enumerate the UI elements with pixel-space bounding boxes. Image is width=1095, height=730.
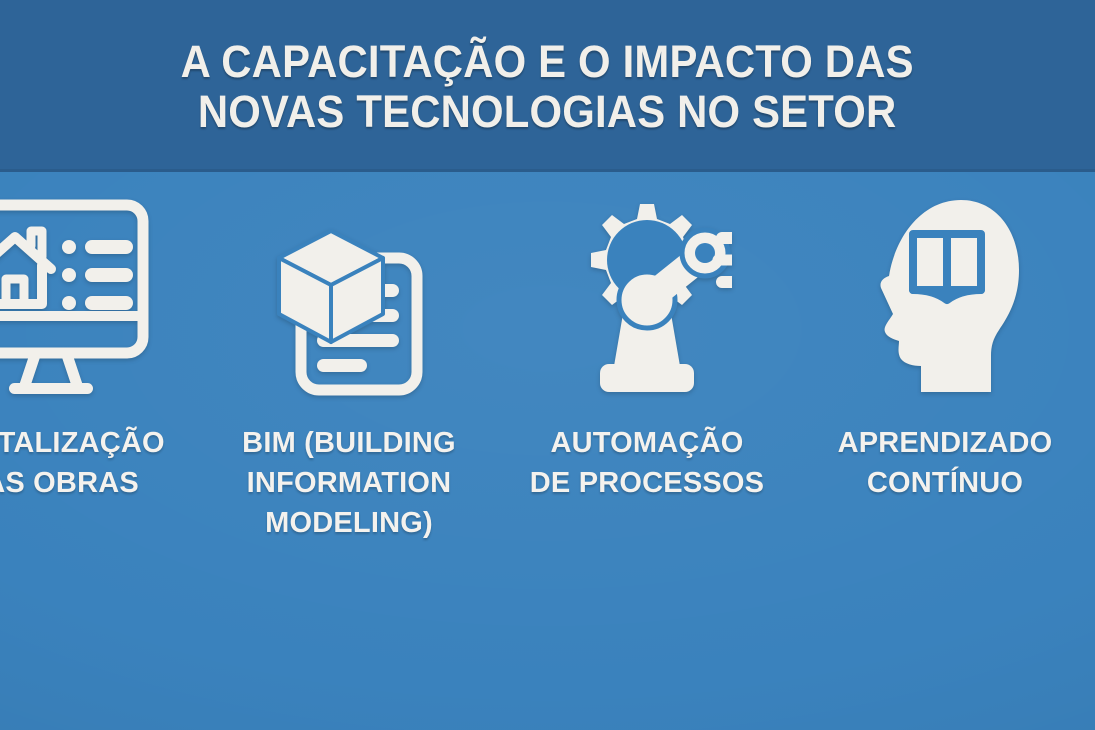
card-label: DIGITALIZAÇÃO DAS OBRAS (0, 423, 196, 503)
card-label: AUTOMAÇÃO DE PROCESSOS (502, 423, 792, 503)
desktop-monitor-house-list-icon (0, 172, 149, 417)
card-automacao-de-processos: AUTOMAÇÃO DE PROCESSOS (498, 172, 796, 503)
page-title-line-2: NOVAS TECNOLOGIAS NO SETOR (181, 87, 914, 137)
card-label: APRENDIZADO CONTÍNUO (800, 423, 1090, 503)
card-digitalizacao-das-obras: DIGITALIZAÇÃO DAS OBRAS (0, 172, 200, 503)
card-bim: BIM (BUILDING INFORMATION MODELING) (200, 172, 498, 543)
head-open-book-icon (869, 172, 1021, 417)
cube-document-icon (269, 172, 429, 417)
page-title: A CAPACITAÇÃO E O IMPACTO DAS NOVAS TECN… (181, 35, 914, 137)
page-title-line-1: A CAPACITAÇÃO E O IMPACTO DAS (181, 37, 914, 87)
card-label: BIM (BUILDING INFORMATION MODELING) (204, 423, 494, 543)
card-aprendizado-continuo: APRENDIZADO CONTÍNUO (796, 172, 1094, 503)
robot-arm-gear-icon (562, 172, 732, 417)
header-banner: A CAPACITAÇÃO E O IMPACTO DAS NOVAS TECN… (0, 0, 1095, 172)
technology-cards-row: DIGITALIZAÇÃO DAS OBRAS (0, 172, 1095, 730)
